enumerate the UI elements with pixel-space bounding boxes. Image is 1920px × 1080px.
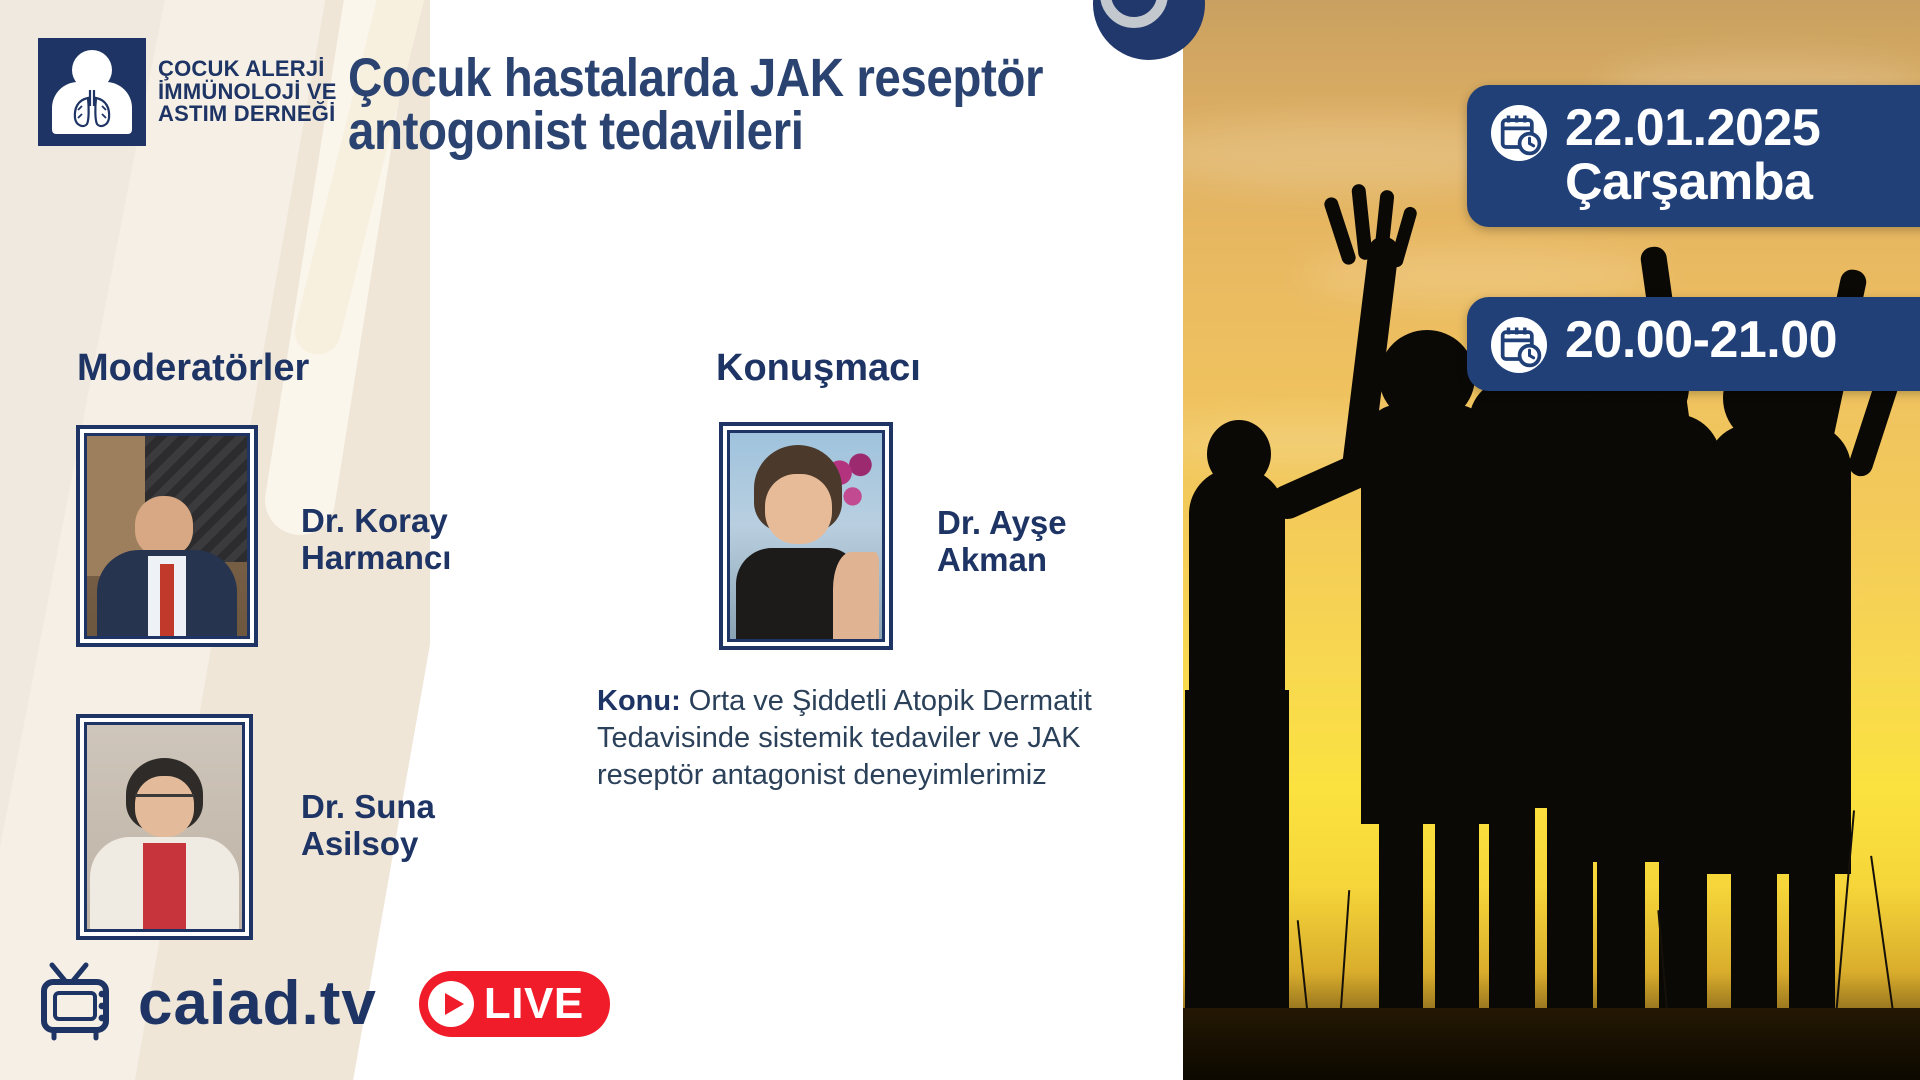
- live-label: LIVE: [484, 979, 584, 1029]
- topic-label: Konu:: [597, 685, 681, 717]
- topic-paragraph: Konu: Orta ve Şiddetli Atopik Dermatit T…: [597, 683, 1183, 794]
- org-name-line-3: ASTIM DERNEĞİ: [158, 103, 337, 125]
- content-panel: ÇOCUK ALERJİ İMMÜNOLOJİ VE ASTIM DERNEĞİ…: [0, 0, 1183, 1080]
- org-name-line-1: ÇOCUK ALERJİ: [158, 58, 337, 80]
- webinar-poster: 22.01.2025 Çarşamba 20.00-21.00: [0, 0, 1920, 1080]
- date-badge: 22.01.2025 Çarşamba: [1467, 85, 1920, 227]
- speaker-photo-ayse: [719, 422, 893, 650]
- title-line-2: antogonist tedavileri: [348, 105, 1052, 158]
- name-line-2: Akman: [937, 542, 1067, 579]
- name-line-1: Dr. Suna: [301, 789, 435, 826]
- play-icon: [428, 981, 474, 1027]
- event-weekday: Çarşamba: [1565, 155, 1820, 209]
- name-line-2: Asilsoy: [301, 826, 435, 863]
- calendar-clock-icon: [1491, 105, 1547, 161]
- lungs-torso-icon: [38, 38, 146, 146]
- live-badge[interactable]: LIVE: [419, 971, 610, 1037]
- moderator-photo-suna: [76, 714, 253, 940]
- television-icon: [38, 962, 134, 1046]
- name-line-1: Dr. Koray: [301, 503, 451, 540]
- calendar-clock-icon: [1491, 317, 1547, 373]
- brand-name[interactable]: caiad.tv: [138, 973, 377, 1035]
- page-title: Çocuk hastalarda JAK reseptör antogonist…: [348, 52, 1052, 158]
- moderators-heading: Moderatörler: [77, 347, 309, 390]
- time-badge: 20.00-21.00: [1467, 297, 1920, 391]
- moderator-name-koray: Dr. Koray Harmancı: [301, 503, 451, 577]
- moderator-name-suna: Dr. Suna Asilsoy: [301, 789, 435, 863]
- event-date: 22.01.2025: [1565, 101, 1820, 155]
- speaker-heading: Konuşmacı: [716, 347, 921, 390]
- speaker-name-ayse: Dr. Ayşe Akman: [937, 505, 1067, 579]
- organization-name: ÇOCUK ALERJİ İMMÜNOLOJİ VE ASTIM DERNEĞİ: [158, 58, 337, 125]
- organization-logo: ÇOCUK ALERJİ İMMÜNOLOJİ VE ASTIM DERNEĞİ: [38, 38, 337, 146]
- title-line-1: Çocuk hastalarda JAK reseptör: [348, 52, 1052, 105]
- footer-bar: caiad.tv LIVE: [38, 962, 610, 1046]
- moderator-photo-koray: [76, 425, 258, 647]
- event-time: 20.00-21.00: [1565, 313, 1837, 367]
- name-line-2: Harmancı: [301, 540, 451, 577]
- org-name-line-2: İMMÜNOLOJİ VE: [158, 81, 337, 103]
- name-line-1: Dr. Ayşe: [937, 505, 1067, 542]
